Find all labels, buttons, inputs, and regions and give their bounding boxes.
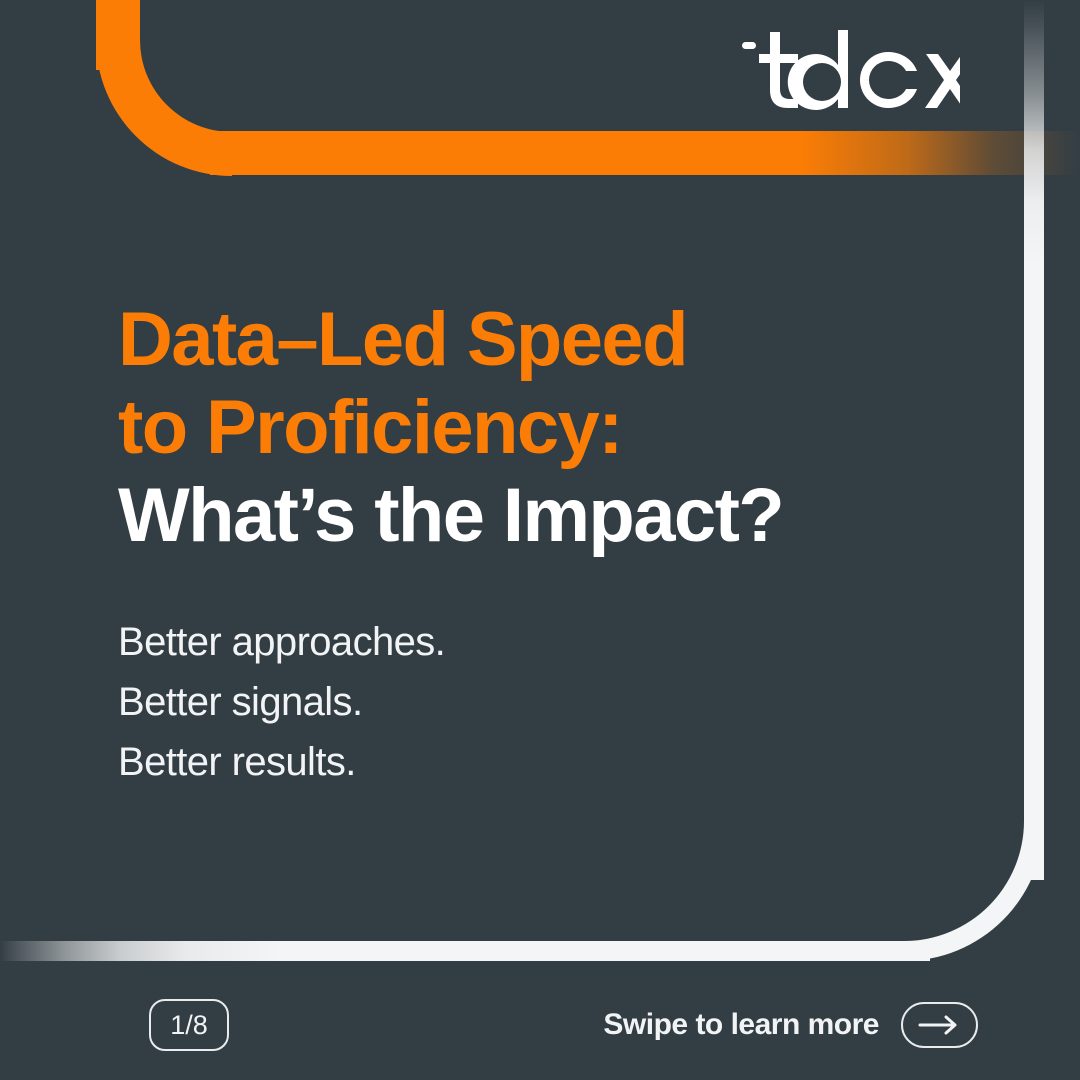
white-frame-corner [904,820,1044,961]
headline-line-2: to Proficiency: [118,384,938,472]
arrow-right-icon [918,1015,962,1035]
slide-canvas: Data–Led Speed to Proficiency: What’s th… [0,0,1080,1080]
subtitle-block: Better approaches. Better signals. Bette… [118,612,818,792]
swipe-next-button[interactable] [901,1002,978,1048]
tdcx-logo [740,28,960,114]
page-title: Data–Led Speed to Proficiency: What’s th… [118,296,938,560]
white-vertical-rule [1024,0,1044,880]
page-indicator-label: 1/8 [170,1012,208,1039]
swipe-cta-label: Swipe to learn more [603,1010,879,1040]
swipe-cta[interactable]: Swipe to learn more [603,1002,978,1048]
white-horizontal-rule [0,941,930,961]
headline-line-3: What’s the Impact? [118,472,938,560]
page-indicator-badge: 1/8 [149,999,229,1051]
subtitle-line-2: Better signals. [118,672,818,732]
headline-line-1: Data–Led Speed [118,296,938,384]
subtitle-line-1: Better approaches. [118,612,818,672]
subtitle-line-3: Better results. [118,732,818,792]
orange-frame-horizontal-rule [210,131,1080,175]
